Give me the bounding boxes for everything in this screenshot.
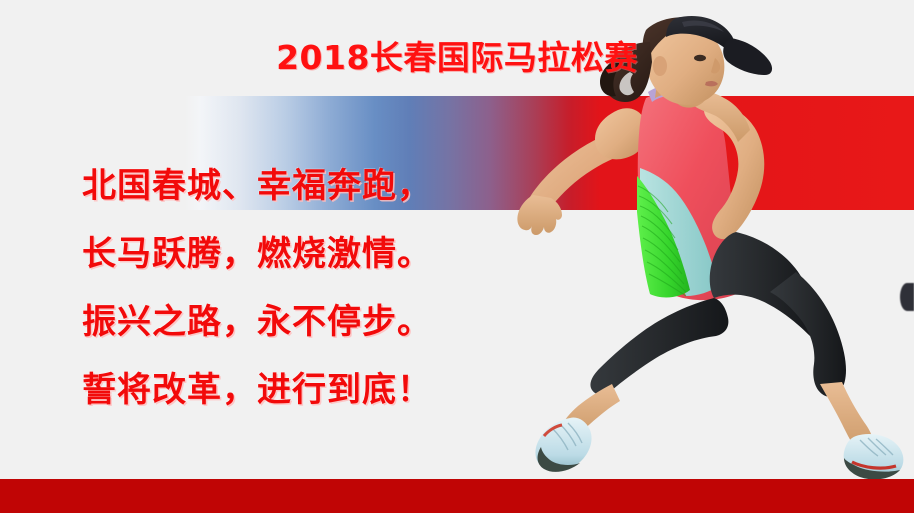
cropped-object-right-edge [900,283,914,311]
page-title: 2018长春国际马拉松赛 [0,37,914,79]
slogan-line-3: 振兴之路，永不停步。 [82,288,502,356]
slide-canvas: 2018长春国际马拉松赛 北国春城、幸福奔跑， 长马跃腾，燃烧激情。 振兴之路，… [0,0,914,513]
slogan-line-4: 誓将改革，进行到底！ [82,356,502,424]
slogan-line-2: 长马跃腾，燃烧激情。 [82,220,502,288]
bottom-red-bar [0,479,914,513]
slogan-block: 北国春城、幸福奔跑， 长马跃腾，燃烧激情。 振兴之路，永不停步。 誓将改革，进行… [82,152,502,424]
slogan-line-1: 北国春城、幸福奔跑， [82,152,502,220]
